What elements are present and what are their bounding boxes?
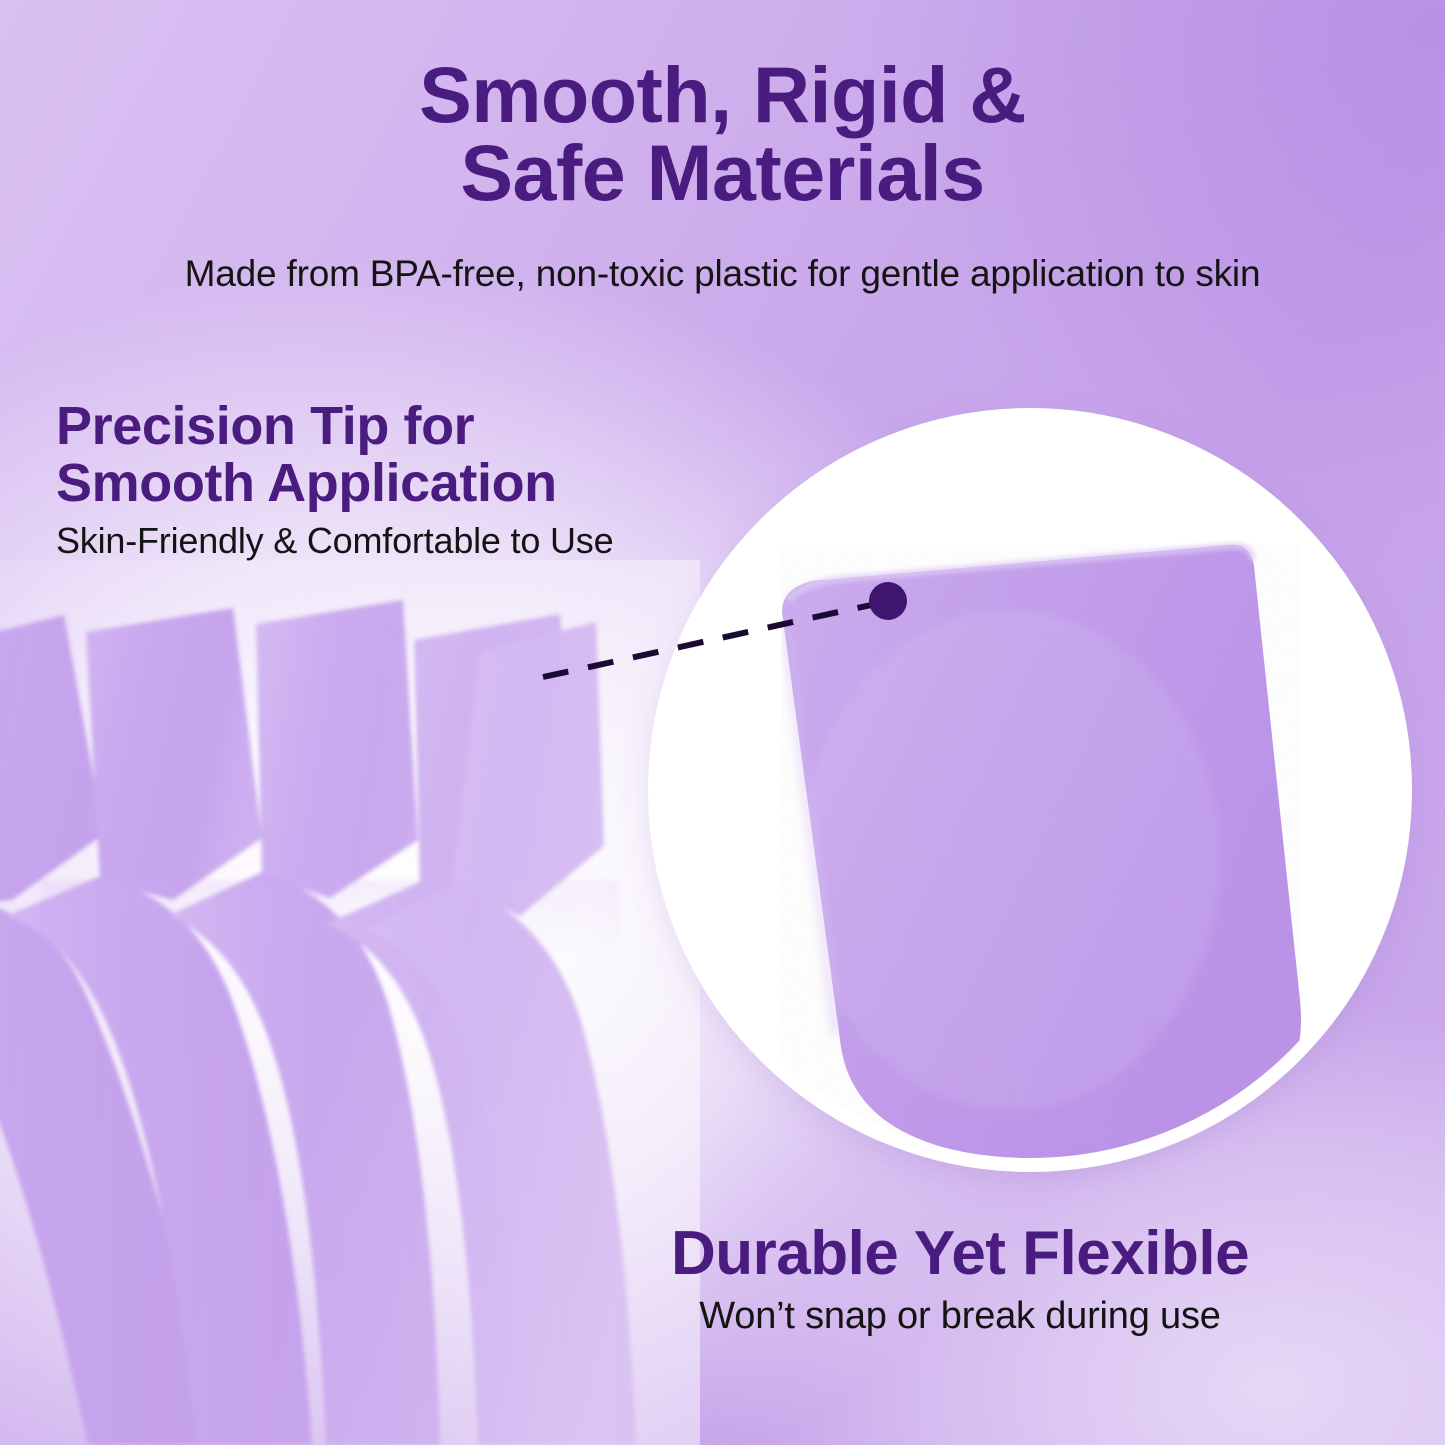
feature-left-heading-line-1: Precision Tip for [56, 396, 474, 456]
feature-left-subheading: Skin-Friendly & Comfortable to Use [56, 520, 756, 562]
magnifier-inset [652, 412, 1408, 1168]
callout-dot [869, 582, 907, 620]
magnified-spatula-tip [782, 545, 1301, 1161]
feature-left-block: Precision Tip for Smooth Application Ski… [56, 398, 756, 562]
title-line-1: Smooth, Rigid & [419, 50, 1026, 139]
feature-left-heading: Precision Tip for Smooth Application [56, 398, 756, 512]
feature-bottom-block: Durable Yet Flexible Won’t snap or break… [500, 1222, 1420, 1338]
feature-bottom-heading: Durable Yet Flexible [500, 1222, 1420, 1285]
feature-left-heading-line-2: Smooth Application [56, 455, 756, 512]
page-title: Smooth, Rigid & Safe Materials [0, 56, 1445, 212]
page-subtitle: Made from BPA-free, non-toxic plastic fo… [0, 253, 1445, 295]
inset-clipped-content [782, 545, 1301, 1161]
title-line-2: Safe Materials [0, 134, 1445, 212]
infographic-canvas: Smooth, Rigid & Safe Materials Made from… [0, 0, 1445, 1445]
feature-bottom-subheading: Won’t snap or break during use [500, 1295, 1420, 1338]
